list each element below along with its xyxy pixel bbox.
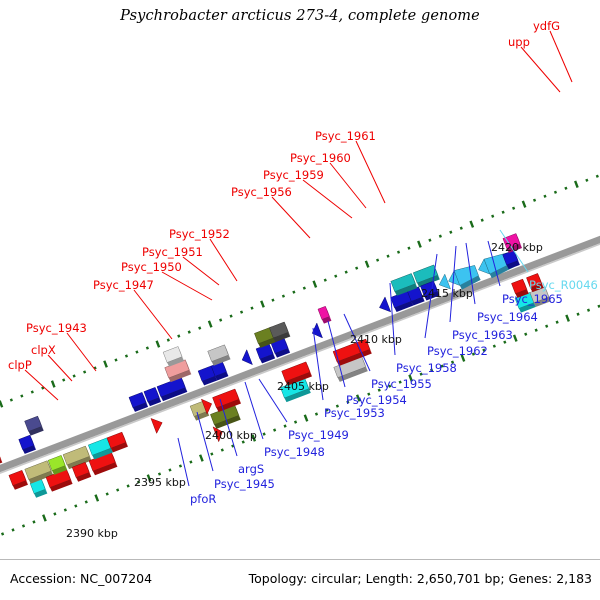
gene-label-psyc-1953[interactable]: Psyc_1953 <box>324 408 385 420</box>
Psyc_1952-box[interactable] <box>213 389 241 412</box>
gene-label-psyc-1961[interactable]: Psyc_1961 <box>315 131 376 143</box>
position-label-2395: 2395 kbp <box>134 477 186 488</box>
position-label-2410: 2410 kbp <box>350 334 402 345</box>
genome-map-viewer: Psychrobacter arcticus 273-4, complete g… <box>0 0 600 600</box>
position-label-2405: 2405 kbp <box>277 381 329 392</box>
gene-label-clpp[interactable]: clpP <box>8 360 32 372</box>
gene-label-psyc-1958[interactable]: Psyc_1958 <box>396 363 457 375</box>
gene-label-psyc-1963[interactable]: Psyc_1963 <box>452 330 513 342</box>
gene-r-019[interactable] <box>379 297 390 312</box>
gene-label-psyc-1945[interactable]: Psyc_1945 <box>214 479 275 491</box>
gene-label-psyc-1955[interactable]: Psyc_1955 <box>371 379 432 391</box>
gene-r-003[interactable] <box>25 416 44 435</box>
gene-label-psyc-1954[interactable]: Psyc_1954 <box>346 395 407 407</box>
gene-label-psyc-1965[interactable]: Psyc_1965 <box>502 294 563 306</box>
gene-label-psyc-1951[interactable]: Psyc_1951 <box>142 247 203 259</box>
gene-label-upp[interactable]: upp <box>508 37 530 49</box>
gene-r-012[interactable] <box>242 350 252 365</box>
position-label-2415: 2415 kbp <box>421 288 473 299</box>
gene-r-002[interactable] <box>19 435 36 454</box>
gene-label-pfor[interactable]: pfoR <box>190 494 216 506</box>
gene-label-psyc-1959[interactable]: Psyc_1959 <box>263 170 324 182</box>
gene-label-psyc-1956[interactable]: Psyc_1956 <box>231 187 292 199</box>
gene-label-psyc-1962[interactable]: Psyc_1962 <box>427 346 488 358</box>
accession-text: Accession: NC_007204 <box>10 571 152 586</box>
gene-label-psyc-1950[interactable]: Psyc_1950 <box>121 262 182 274</box>
gene-label-psyc-1947[interactable]: Psyc_1947 <box>93 280 154 292</box>
Psyc_1953-box[interactable] <box>208 345 231 366</box>
genome-summary-text: Topology: circular; Length: 2,650,701 bp… <box>249 571 592 586</box>
gene-label-psyc-1964[interactable]: Psyc_1964 <box>477 312 538 324</box>
gene-label-psyc-1960[interactable]: Psyc_1960 <box>290 153 351 165</box>
gene-label-psyc-r0046[interactable]: Psyc_R0046 <box>529 280 598 292</box>
gene-f-011[interactable] <box>151 418 162 433</box>
Psyc_1958-box[interactable] <box>318 306 331 323</box>
gene-label-clpx[interactable]: clpX <box>31 345 56 357</box>
position-label-2420: 2420 kbp <box>491 242 543 253</box>
position-label-2390: 2390 kbp <box>66 528 118 539</box>
status-bar: Accession: NC_007204 Topology: circular;… <box>0 559 600 600</box>
gene-label-args[interactable]: argS <box>238 464 264 476</box>
clpP-box[interactable] <box>9 470 28 489</box>
position-label-2400: 2400 kbp <box>205 430 257 441</box>
gene-label-psyc-1949[interactable]: Psyc_1949 <box>288 430 349 442</box>
gene-label-psyc-1948[interactable]: Psyc_1948 <box>264 447 325 459</box>
gene-label-psyc-1952[interactable]: Psyc_1952 <box>169 229 230 241</box>
gene-label-ydfg[interactable]: ydfG <box>533 21 560 33</box>
gene-label-psyc-1943[interactable]: Psyc_1943 <box>26 323 87 335</box>
